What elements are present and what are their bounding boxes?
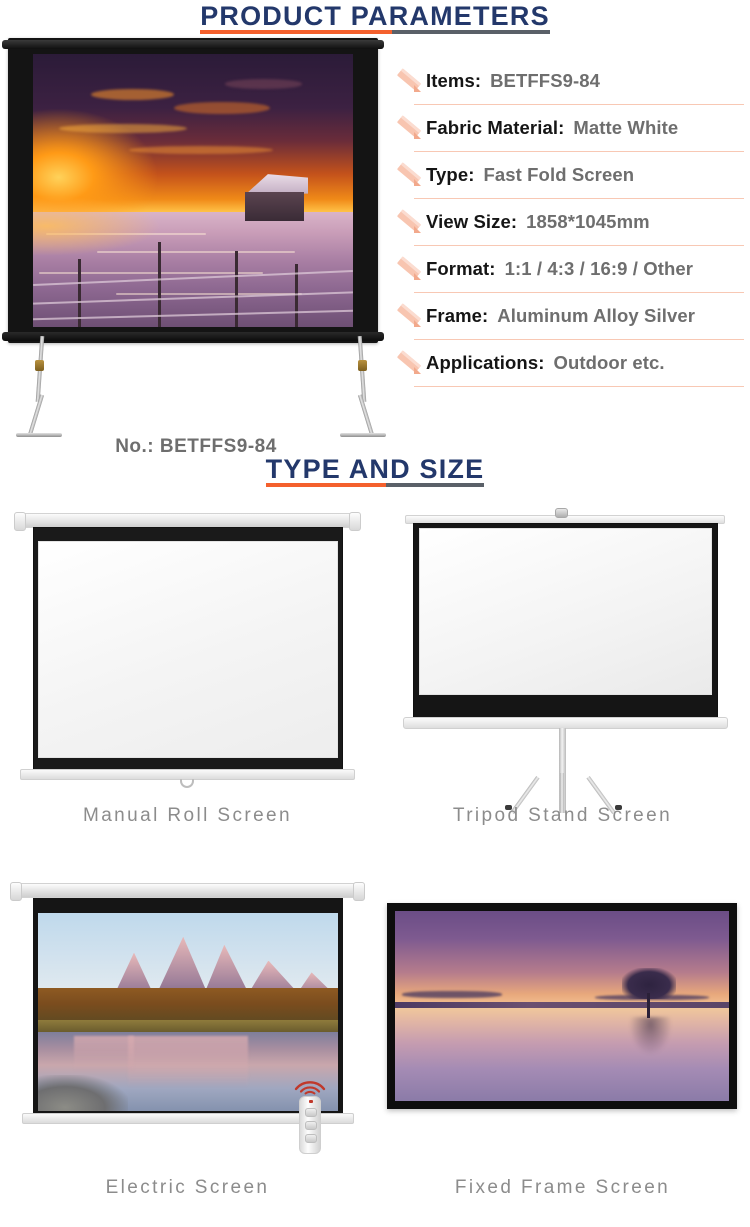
pencil-icon (396, 255, 422, 281)
spec-row-items: Items: BETFFS9-84 (396, 58, 744, 105)
remote-control[interactable] (299, 1096, 321, 1154)
grid-item-fixed-frame: Fixed Frame Screen (375, 877, 750, 1227)
barn (241, 174, 308, 220)
underline-grey-segment (386, 483, 484, 487)
title-underline (200, 30, 550, 34)
product-parameters-section: PRODUCT PARAMETERS (0, 0, 750, 445)
grid-caption: Electric Screen (0, 1177, 375, 1199)
grid-item-manual-roll: Manual Roll Screen (0, 505, 375, 855)
wifi-signal-icon (292, 1073, 328, 1095)
manual-roll-screen-image (0, 505, 375, 805)
screen-black-border (33, 527, 343, 772)
pencil-icon (396, 67, 422, 93)
grid-caption: Tripod Stand Screen (375, 805, 750, 827)
pencil-icon (396, 208, 422, 234)
spec-row-view-size: View Size: 1858*1045mm (396, 199, 744, 246)
grid-item-tripod-stand: Tripod Stand Screen (375, 505, 750, 855)
section-title: TYPE AND SIZE (266, 455, 485, 493)
spec-value: BETFFS9-84 (490, 70, 600, 92)
type-size-heading: TYPE AND SIZE (0, 455, 750, 493)
screen-white-surface (38, 541, 338, 758)
screen-black-frame (387, 903, 737, 1109)
page-title: PRODUCT PARAMETERS (200, 2, 550, 40)
specifications-list: Items: BETFFS9-84 Fabric Material: Matte… (396, 58, 744, 387)
pencil-icon (396, 114, 422, 140)
spec-label: Format: (426, 258, 496, 280)
tree-silhouette (622, 968, 675, 1017)
spec-value: Fast Fold Screen (483, 164, 634, 186)
screen-legs (8, 334, 394, 439)
underline-orange-segment (266, 483, 386, 487)
spec-label: Type: (426, 164, 474, 186)
grid-caption: Manual Roll Screen (0, 805, 375, 827)
lake-sunset-image (395, 911, 729, 1101)
spec-value: 1:1 / 4:3 / 16:9 / Other (505, 258, 694, 280)
spec-label: Applications: (426, 352, 544, 374)
remote-down-button[interactable] (305, 1134, 317, 1143)
spec-label: Frame: (426, 305, 488, 327)
screen-casing (18, 513, 357, 528)
spec-row-type: Type: Fast Fold Screen (396, 152, 744, 199)
parameters-heading: PRODUCT PARAMETERS (0, 0, 750, 40)
fast-fold-screen-illustration (8, 38, 378, 343)
pencil-icon (396, 302, 422, 328)
tree-reflection (629, 1017, 672, 1055)
spec-label: View Size: (426, 211, 517, 233)
remote-stop-button[interactable] (305, 1121, 317, 1130)
screen-casing (14, 883, 361, 898)
spec-row-format: Format: 1:1 / 4:3 / 16:9 / Other (396, 246, 744, 293)
screen-black-border (413, 523, 718, 718)
spec-label: Fabric Material: (426, 117, 564, 139)
screen-frame (8, 38, 378, 343)
spec-value: Outdoor etc. (553, 352, 664, 374)
remote-led-icon (309, 1100, 313, 1103)
spec-row-applications: Applications: Outdoor etc. (396, 340, 744, 387)
spec-row-frame: Frame: Aluminum Alloy Silver (396, 293, 744, 340)
parameters-title-text: PRODUCT PARAMETERS (200, 1, 550, 31)
underline-grey-segment (392, 30, 549, 34)
remote-up-button[interactable] (305, 1108, 317, 1117)
grid-caption: Fixed Frame Screen (375, 1177, 750, 1199)
spec-value: 1858*1045mm (526, 211, 650, 233)
spec-row-fabric-material: Fabric Material: Matte White (396, 105, 744, 152)
type-size-title-text: TYPE AND SIZE (266, 454, 485, 484)
tension-knob (555, 508, 568, 518)
pull-ring-handle (180, 779, 194, 788)
row-divider (414, 386, 744, 387)
title-underline (266, 483, 485, 487)
pencil-icon (396, 349, 422, 375)
pencil-icon (396, 161, 422, 187)
snow-fence (33, 218, 353, 327)
underline-orange-segment (200, 30, 392, 34)
spec-label: Items: (426, 70, 481, 92)
spec-value: Matte White (573, 117, 678, 139)
fixed-frame-screen-image (375, 877, 750, 1177)
screen-surface (33, 54, 353, 327)
hero-product-image: No.: BETFFS9-84 (0, 38, 392, 398)
tripod-stand-screen-image (375, 505, 750, 805)
screen-white-surface (419, 528, 712, 695)
spec-value: Aluminum Alloy Silver (497, 305, 695, 327)
grid-item-electric: Electric Screen (0, 877, 375, 1227)
